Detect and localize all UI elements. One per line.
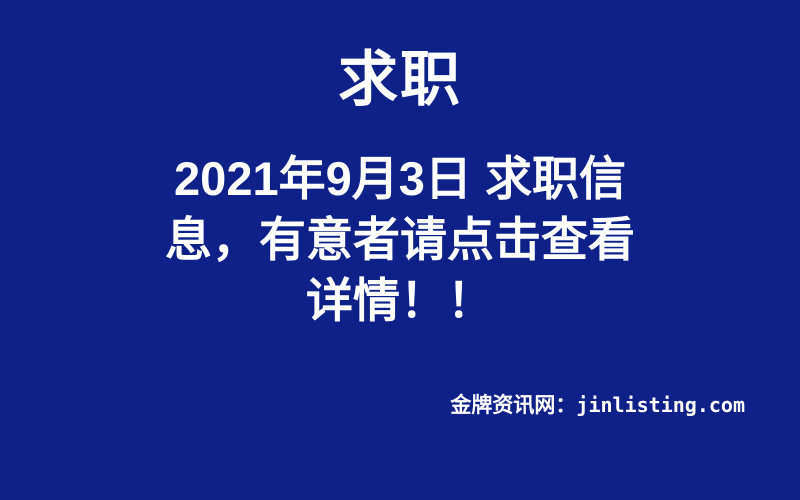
announcement-message: 2021年9月3日 求职信 息，有意者请点击查看 详情！！ xyxy=(100,148,700,331)
poster-canvas: 求职 2021年9月3日 求职信 息，有意者请点击查看 详情！！ 金牌资讯网： … xyxy=(0,0,800,500)
site-name-label: 金牌资讯网： xyxy=(450,393,576,419)
message-line-1: 2021年9月3日 求职信 xyxy=(100,148,700,209)
message-line-2: 息，有意者请点击查看 xyxy=(100,209,700,270)
page-title: 求职 xyxy=(0,48,800,113)
site-url-label: jinlisting.com xyxy=(576,392,745,418)
site-watermark: 金牌资讯网： jinlisting.com xyxy=(450,392,745,419)
message-line-3: 详情！！ xyxy=(100,270,700,331)
